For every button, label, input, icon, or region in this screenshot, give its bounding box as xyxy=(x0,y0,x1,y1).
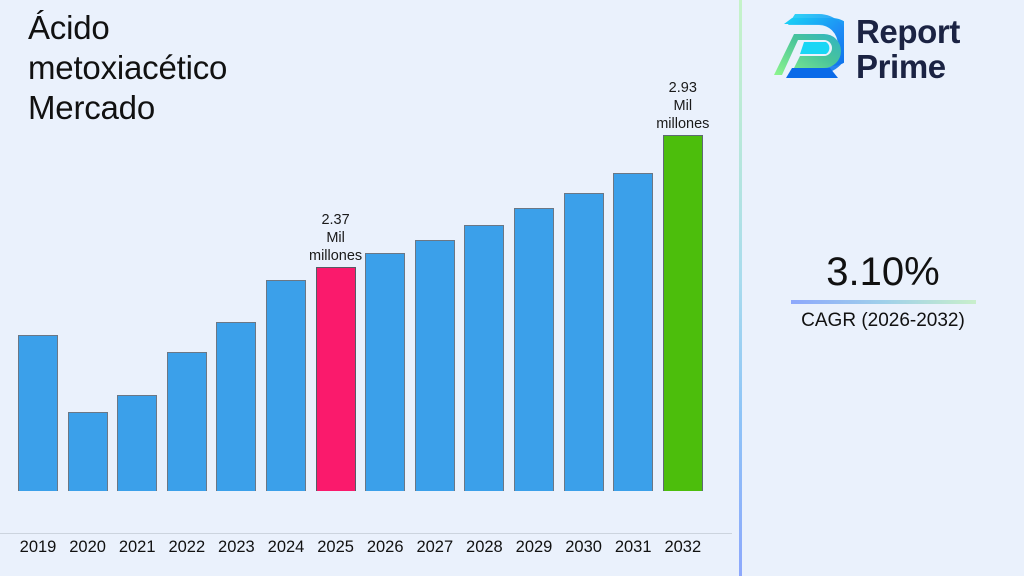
x-tick-2021: 2021 xyxy=(112,538,162,557)
bar-2032[interactable]: 2.93 Mil millones xyxy=(663,135,703,491)
x-tick-2023: 2023 xyxy=(211,538,261,557)
bar-fill-2030 xyxy=(564,193,604,491)
bar-2022[interactable] xyxy=(167,352,207,491)
x-tick-2019: 2019 xyxy=(13,538,63,557)
bar-2021[interactable] xyxy=(117,395,157,491)
cagr-block: 3.10% CAGR (2026-2032) xyxy=(742,248,1024,333)
x-tick-2032: 2032 xyxy=(658,538,708,557)
bar-2030[interactable] xyxy=(564,193,604,491)
bar-fill-2029 xyxy=(514,208,554,491)
x-tick-2028: 2028 xyxy=(459,538,509,557)
bar-fill-2028 xyxy=(464,225,504,491)
bar-fill-2027 xyxy=(415,240,455,491)
bar-2027[interactable] xyxy=(415,240,455,491)
bar-chart-plot: 2.37 Mil millones2.93 Mil millones xyxy=(0,0,740,534)
bar-fill-2025 xyxy=(316,267,356,491)
brand-logo[interactable]: Report Prime xyxy=(770,12,960,86)
x-tick-2025: 2025 xyxy=(311,538,361,557)
x-tick-2031: 2031 xyxy=(608,538,658,557)
bar-fill-2031 xyxy=(613,173,653,491)
bar-2031[interactable] xyxy=(613,173,653,491)
bar-fill-2032 xyxy=(663,135,703,491)
report-prime-logo-mark-icon xyxy=(770,12,844,86)
bar-2023[interactable] xyxy=(216,322,256,491)
x-tick-2022: 2022 xyxy=(162,538,212,557)
bar-fill-2026 xyxy=(365,253,405,491)
bar-fill-2023 xyxy=(216,322,256,491)
x-axis-tick-labels: 2019202020212022202320242025202620272028… xyxy=(0,538,740,568)
cagr-divider-rule xyxy=(791,300,976,304)
bar-2024[interactable] xyxy=(266,280,306,491)
bar-fill-2019 xyxy=(18,335,58,491)
bar-2025[interactable]: 2.37 Mil millones xyxy=(316,267,356,491)
bar-fill-2024 xyxy=(266,280,306,491)
bar-fill-2022 xyxy=(167,352,207,491)
brand-panel: Report Prime 3.10% CAGR (2026-2032) xyxy=(742,0,1024,576)
bar-fill-2020 xyxy=(68,412,108,491)
x-tick-2024: 2024 xyxy=(261,538,311,557)
bar-fill-2021 xyxy=(117,395,157,491)
slide-root: Ácido metoxiacético Mercado 2.37 Mil mil… xyxy=(0,0,1024,576)
bar-2019[interactable] xyxy=(18,335,58,491)
bar-2020[interactable] xyxy=(68,412,108,491)
x-tick-2027: 2027 xyxy=(410,538,460,557)
x-tick-2029: 2029 xyxy=(509,538,559,557)
chart-panel: Ácido metoxiacético Mercado 2.37 Mil mil… xyxy=(0,0,740,576)
brand-logo-text: Report Prime xyxy=(856,14,960,84)
x-axis-baseline xyxy=(0,533,732,534)
x-tick-2020: 2020 xyxy=(63,538,113,557)
x-tick-2030: 2030 xyxy=(559,538,609,557)
cagr-label: CAGR (2026-2032) xyxy=(742,309,1024,333)
x-tick-2026: 2026 xyxy=(360,538,410,557)
bar-2029[interactable] xyxy=(514,208,554,491)
bar-2026[interactable] xyxy=(365,253,405,491)
bar-2028[interactable] xyxy=(464,225,504,491)
cagr-value: 3.10% xyxy=(742,248,1024,296)
bar-value-label-2032: 2.93 Mil millones xyxy=(628,79,738,135)
